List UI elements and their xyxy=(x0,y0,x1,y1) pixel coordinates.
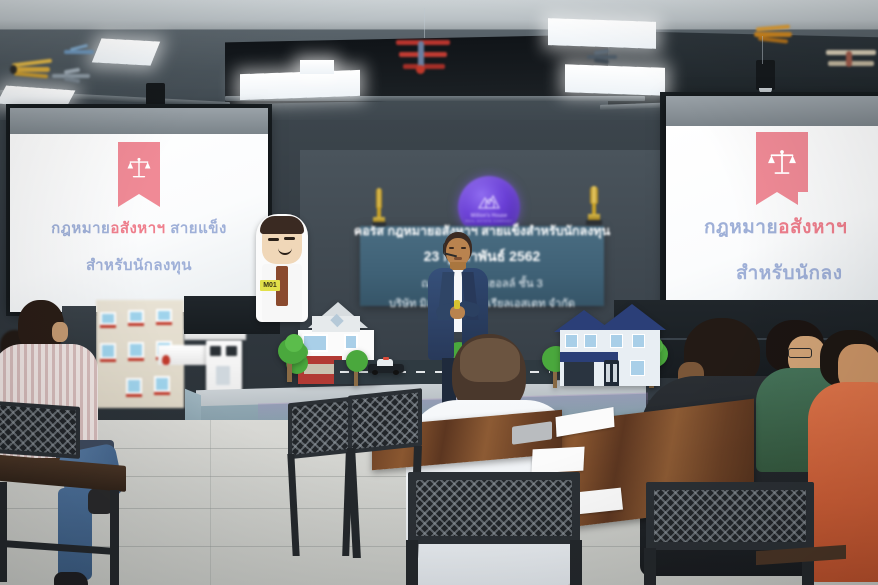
facade-window xyxy=(156,309,172,322)
slide-content: กฎหมายอสังหาฯ สายแข็ง สำหรับนักลงทุน xyxy=(10,134,268,312)
mascot-badge: M01 xyxy=(260,280,280,291)
presenter-clicker xyxy=(454,300,460,309)
screen-surface: กฎหมายอสังหาฯ สายแข็ง สำหรับนักลงทุน xyxy=(10,134,268,312)
mountain-house-logo-mark xyxy=(477,192,501,212)
model-plane-blue-jet xyxy=(62,44,96,60)
screen-casing xyxy=(10,108,268,134)
hanging-wire xyxy=(762,36,763,64)
eyeglasses xyxy=(788,348,812,358)
screen-surface: กฎหมายอสังหาฯ สำหรับนักลง xyxy=(666,126,878,326)
floor-plank-line xyxy=(210,420,211,585)
tree-cutout xyxy=(278,336,308,382)
counter-vase xyxy=(162,355,170,365)
track-spotlight xyxy=(756,60,775,90)
hanging-wire xyxy=(424,8,425,38)
facade-window xyxy=(128,310,144,323)
slide-headline: กฎหมายอสังหาฯ xyxy=(704,212,847,242)
facade-window xyxy=(126,378,142,394)
ribbon-banner xyxy=(118,142,160,194)
model-plane-yellow-biplane xyxy=(10,55,54,83)
facade-window xyxy=(154,376,170,392)
seminar-room-photo: กฎหมายอสังหาฯ สายแข็ง สำหรับนักลงทุน xyxy=(0,0,878,585)
right-projection-screen: กฎหมายอสังหาฯ สำหรับนักลง xyxy=(666,96,878,326)
ribbon-banner xyxy=(756,132,808,192)
trophy-right xyxy=(586,186,602,228)
model-plane-orange-biplane xyxy=(750,22,796,46)
trophy-left xyxy=(372,188,386,228)
justice-scales-icon xyxy=(766,148,798,177)
slide-headline: กฎหมายอสังหาฯ สายแข็ง xyxy=(51,216,227,240)
model-plane-cream-biplane xyxy=(826,44,878,72)
model-plane-grey-fighter xyxy=(52,68,92,84)
tree-cutout xyxy=(346,350,370,386)
mesh-back-chair xyxy=(0,404,100,584)
facade-window xyxy=(128,342,144,358)
ceiling-panel-light xyxy=(300,60,334,74)
model-plane-red-triplane xyxy=(396,35,452,75)
model-plane-grey-bomber xyxy=(585,48,619,66)
justice-scales-icon xyxy=(126,156,152,180)
ceiling-panel-light xyxy=(565,64,665,95)
mesh-back-chair xyxy=(404,468,586,585)
ceiling-panel-light xyxy=(240,70,360,100)
ceiling-panel-light xyxy=(92,38,160,65)
ceiling-panel-light xyxy=(548,18,656,49)
screen-casing xyxy=(666,96,878,126)
slide-subline: สำหรับนักลง xyxy=(736,258,842,288)
mesh-back-chair xyxy=(644,478,820,585)
slide-content: กฎหมายอสังหาฯ สำหรับนักลง xyxy=(666,126,878,326)
slide-subline: สำหรับนักลงทุน xyxy=(86,253,192,277)
left-projection-screen: กฎหมายอสังหาฯ สายแข็ง สำหรับนักลงทุน xyxy=(10,108,268,312)
